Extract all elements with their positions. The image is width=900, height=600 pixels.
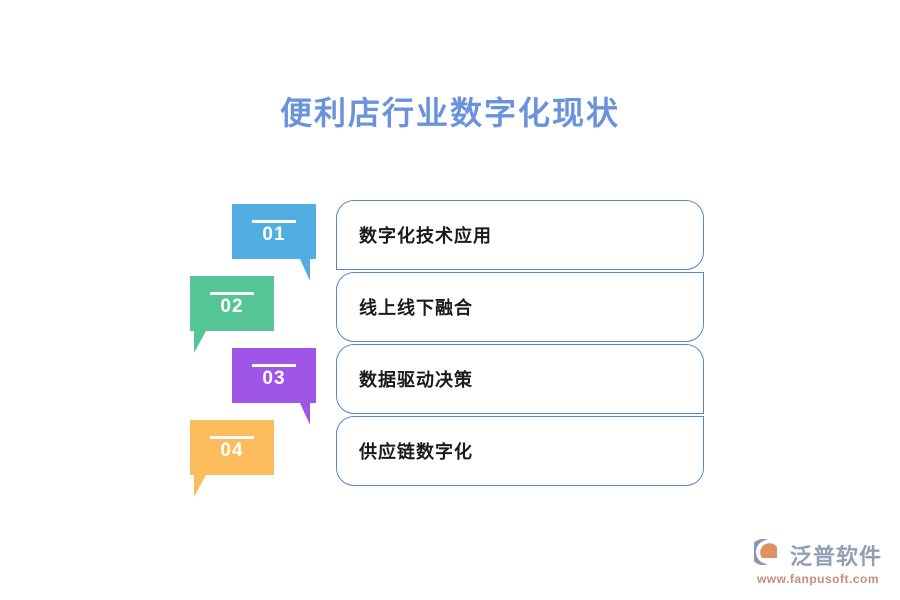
list-item: 04 供应链数字化 — [0, 416, 900, 488]
label-card-text: 数字化技术应用 — [337, 222, 492, 248]
number-tag-rule — [252, 364, 296, 367]
label-card-02[interactable]: 线上线下融合 — [336, 272, 704, 342]
numbered-list-diagram: 01 数字化技术应用 02 线上线下融合 03 数据驱动决策 — [0, 0, 900, 600]
label-card-text: 数据驱动决策 — [337, 366, 473, 392]
number-tag-pointer — [194, 475, 206, 497]
label-card-04[interactable]: 供应链数字化 — [336, 416, 704, 486]
number-tag-01[interactable]: 01 — [232, 204, 316, 259]
number-tag-02[interactable]: 02 — [190, 276, 274, 331]
number-tag-rule — [210, 436, 254, 439]
number-tag-label: 03 — [262, 369, 285, 388]
fanpu-logo-icon — [754, 538, 784, 571]
number-tag-label: 02 — [220, 297, 243, 316]
watermark-logo: 泛普软件 www.fanpusoft.com — [754, 538, 882, 586]
number-tag-label: 01 — [262, 225, 285, 244]
label-card-01[interactable]: 数字化技术应用 — [336, 200, 704, 270]
watermark-brand-name: 泛普软件 — [790, 539, 882, 571]
number-tag-rule — [210, 292, 254, 295]
number-tag-04[interactable]: 04 — [190, 420, 274, 475]
watermark-brand-row: 泛普软件 — [754, 538, 882, 571]
number-tag-rule — [252, 220, 296, 223]
label-card-03[interactable]: 数据驱动决策 — [336, 344, 704, 414]
watermark-url: www.fanpusoft.com — [757, 572, 879, 586]
number-tag-label: 04 — [220, 441, 243, 460]
list-item: 03 数据驱动决策 — [0, 344, 900, 416]
label-card-text: 供应链数字化 — [337, 438, 473, 464]
list-item: 02 线上线下融合 — [0, 272, 900, 344]
list-item: 01 数字化技术应用 — [0, 200, 900, 272]
number-tag-03[interactable]: 03 — [232, 348, 316, 403]
label-card-text: 线上线下融合 — [337, 294, 473, 320]
